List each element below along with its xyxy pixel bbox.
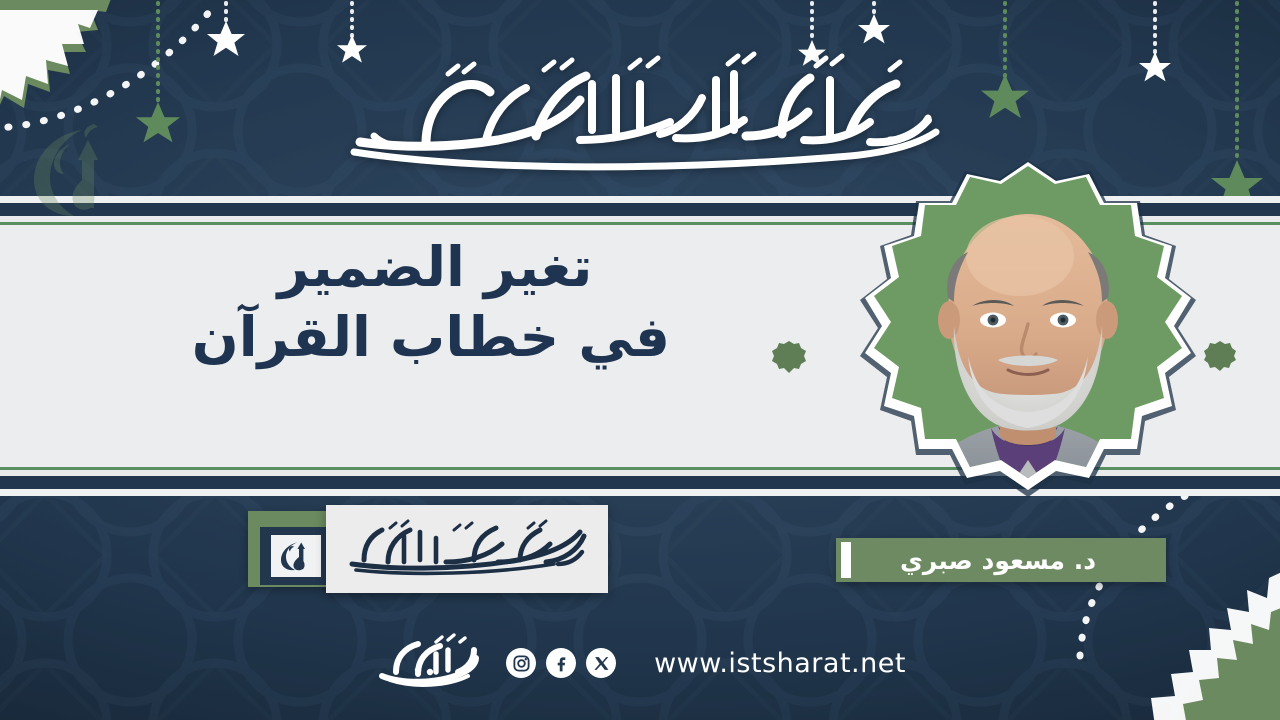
- social-links[interactable]: [506, 648, 616, 678]
- footer-bar: www.istsharat.net: [0, 628, 1280, 698]
- speaker-portrait-frame: [848, 160, 1208, 520]
- x-icon[interactable]: [586, 648, 616, 678]
- title-line-1: تغير الضمير: [200, 232, 670, 302]
- almujtama-logo: [374, 632, 482, 694]
- page-title: تغير الضمير في خطاب القرآن: [200, 232, 670, 373]
- broadcast-title-card: بوابة الاستشارات الإلكترونية تغير الضمير…: [0, 0, 1280, 720]
- program-badge-plate: [326, 505, 608, 593]
- program-badge-monogram-plate: [271, 535, 321, 577]
- facebook-icon[interactable]: [546, 648, 576, 678]
- crescent-minaret-monogram-icon: [279, 540, 313, 572]
- website-url[interactable]: www.istsharat.net: [654, 648, 906, 679]
- speaker-name-bar: د. مسعود صبري: [836, 538, 1166, 582]
- program-badge-calligraphy: [342, 518, 592, 580]
- program-badge: [248, 505, 608, 597]
- speaker-photo: [848, 160, 1208, 520]
- crescent-minaret-watermark-icon: [24, 120, 118, 220]
- program-badge-navy-frame: [260, 527, 332, 585]
- speaker-name: د. مسعود صبري: [900, 546, 1102, 575]
- band-rosette-dot-right: [1204, 340, 1236, 372]
- instagram-icon[interactable]: [506, 648, 536, 678]
- band-rosette-dot-left: [772, 340, 806, 374]
- title-line-2: في خطاب القرآن: [200, 302, 670, 372]
